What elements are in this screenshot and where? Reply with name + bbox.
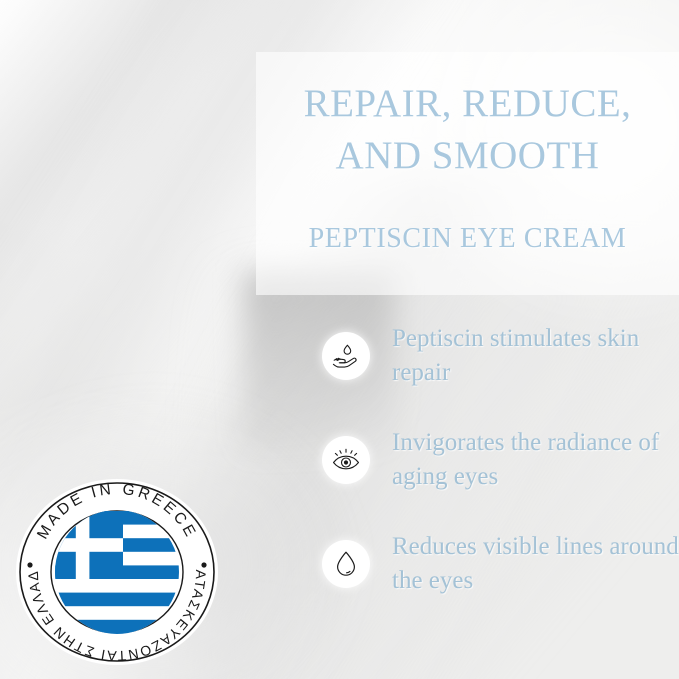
list-item-label: Reduces visible lines around the eyes bbox=[392, 530, 679, 598]
list-item-label: Peptiscin stimulates skin repair bbox=[392, 322, 679, 390]
benefit-list: Peptiscin stimulates skin repair Invigor… bbox=[322, 322, 679, 598]
badge-svg: MADE IN GREECE ΚΑΤΑΣΚΕΥΑΖΟΝΤΑΙ ΣΤΗΝ ΕΛΛΑ… bbox=[13, 477, 221, 667]
product-infographic: REPAIR, REDUCE, AND SMOOTH PEPTISCIN EYE… bbox=[0, 0, 679, 679]
made-in-greece-badge: MADE IN GREECE ΚΑΤΑΣΚΕΥΑΖΟΝΤΑΙ ΣΤΗΝ ΕΛΛΑ… bbox=[13, 477, 221, 667]
badge-dot-right bbox=[201, 562, 206, 567]
radiant-eye-icon bbox=[322, 436, 370, 484]
headline-container: REPAIR, REDUCE, AND SMOOTH bbox=[256, 78, 679, 182]
list-item: Invigorates the radiance of aging eyes bbox=[322, 426, 679, 494]
page-title: REPAIR, REDUCE, AND SMOOTH bbox=[256, 78, 679, 182]
hand-with-droplet-icon bbox=[322, 332, 370, 380]
product-name: PEPTISCIN EYE CREAM bbox=[256, 222, 679, 256]
list-item: Reduces visible lines around the eyes bbox=[322, 530, 679, 598]
water-droplet-icon bbox=[322, 540, 370, 588]
badge-dot-left bbox=[27, 562, 32, 567]
list-item: Peptiscin stimulates skin repair bbox=[322, 322, 679, 390]
subheadline-container: PEPTISCIN EYE CREAM bbox=[256, 222, 679, 256]
list-item-label: Invigorates the radiance of aging eyes bbox=[392, 426, 679, 494]
greek-flag-icon bbox=[55, 511, 179, 634]
